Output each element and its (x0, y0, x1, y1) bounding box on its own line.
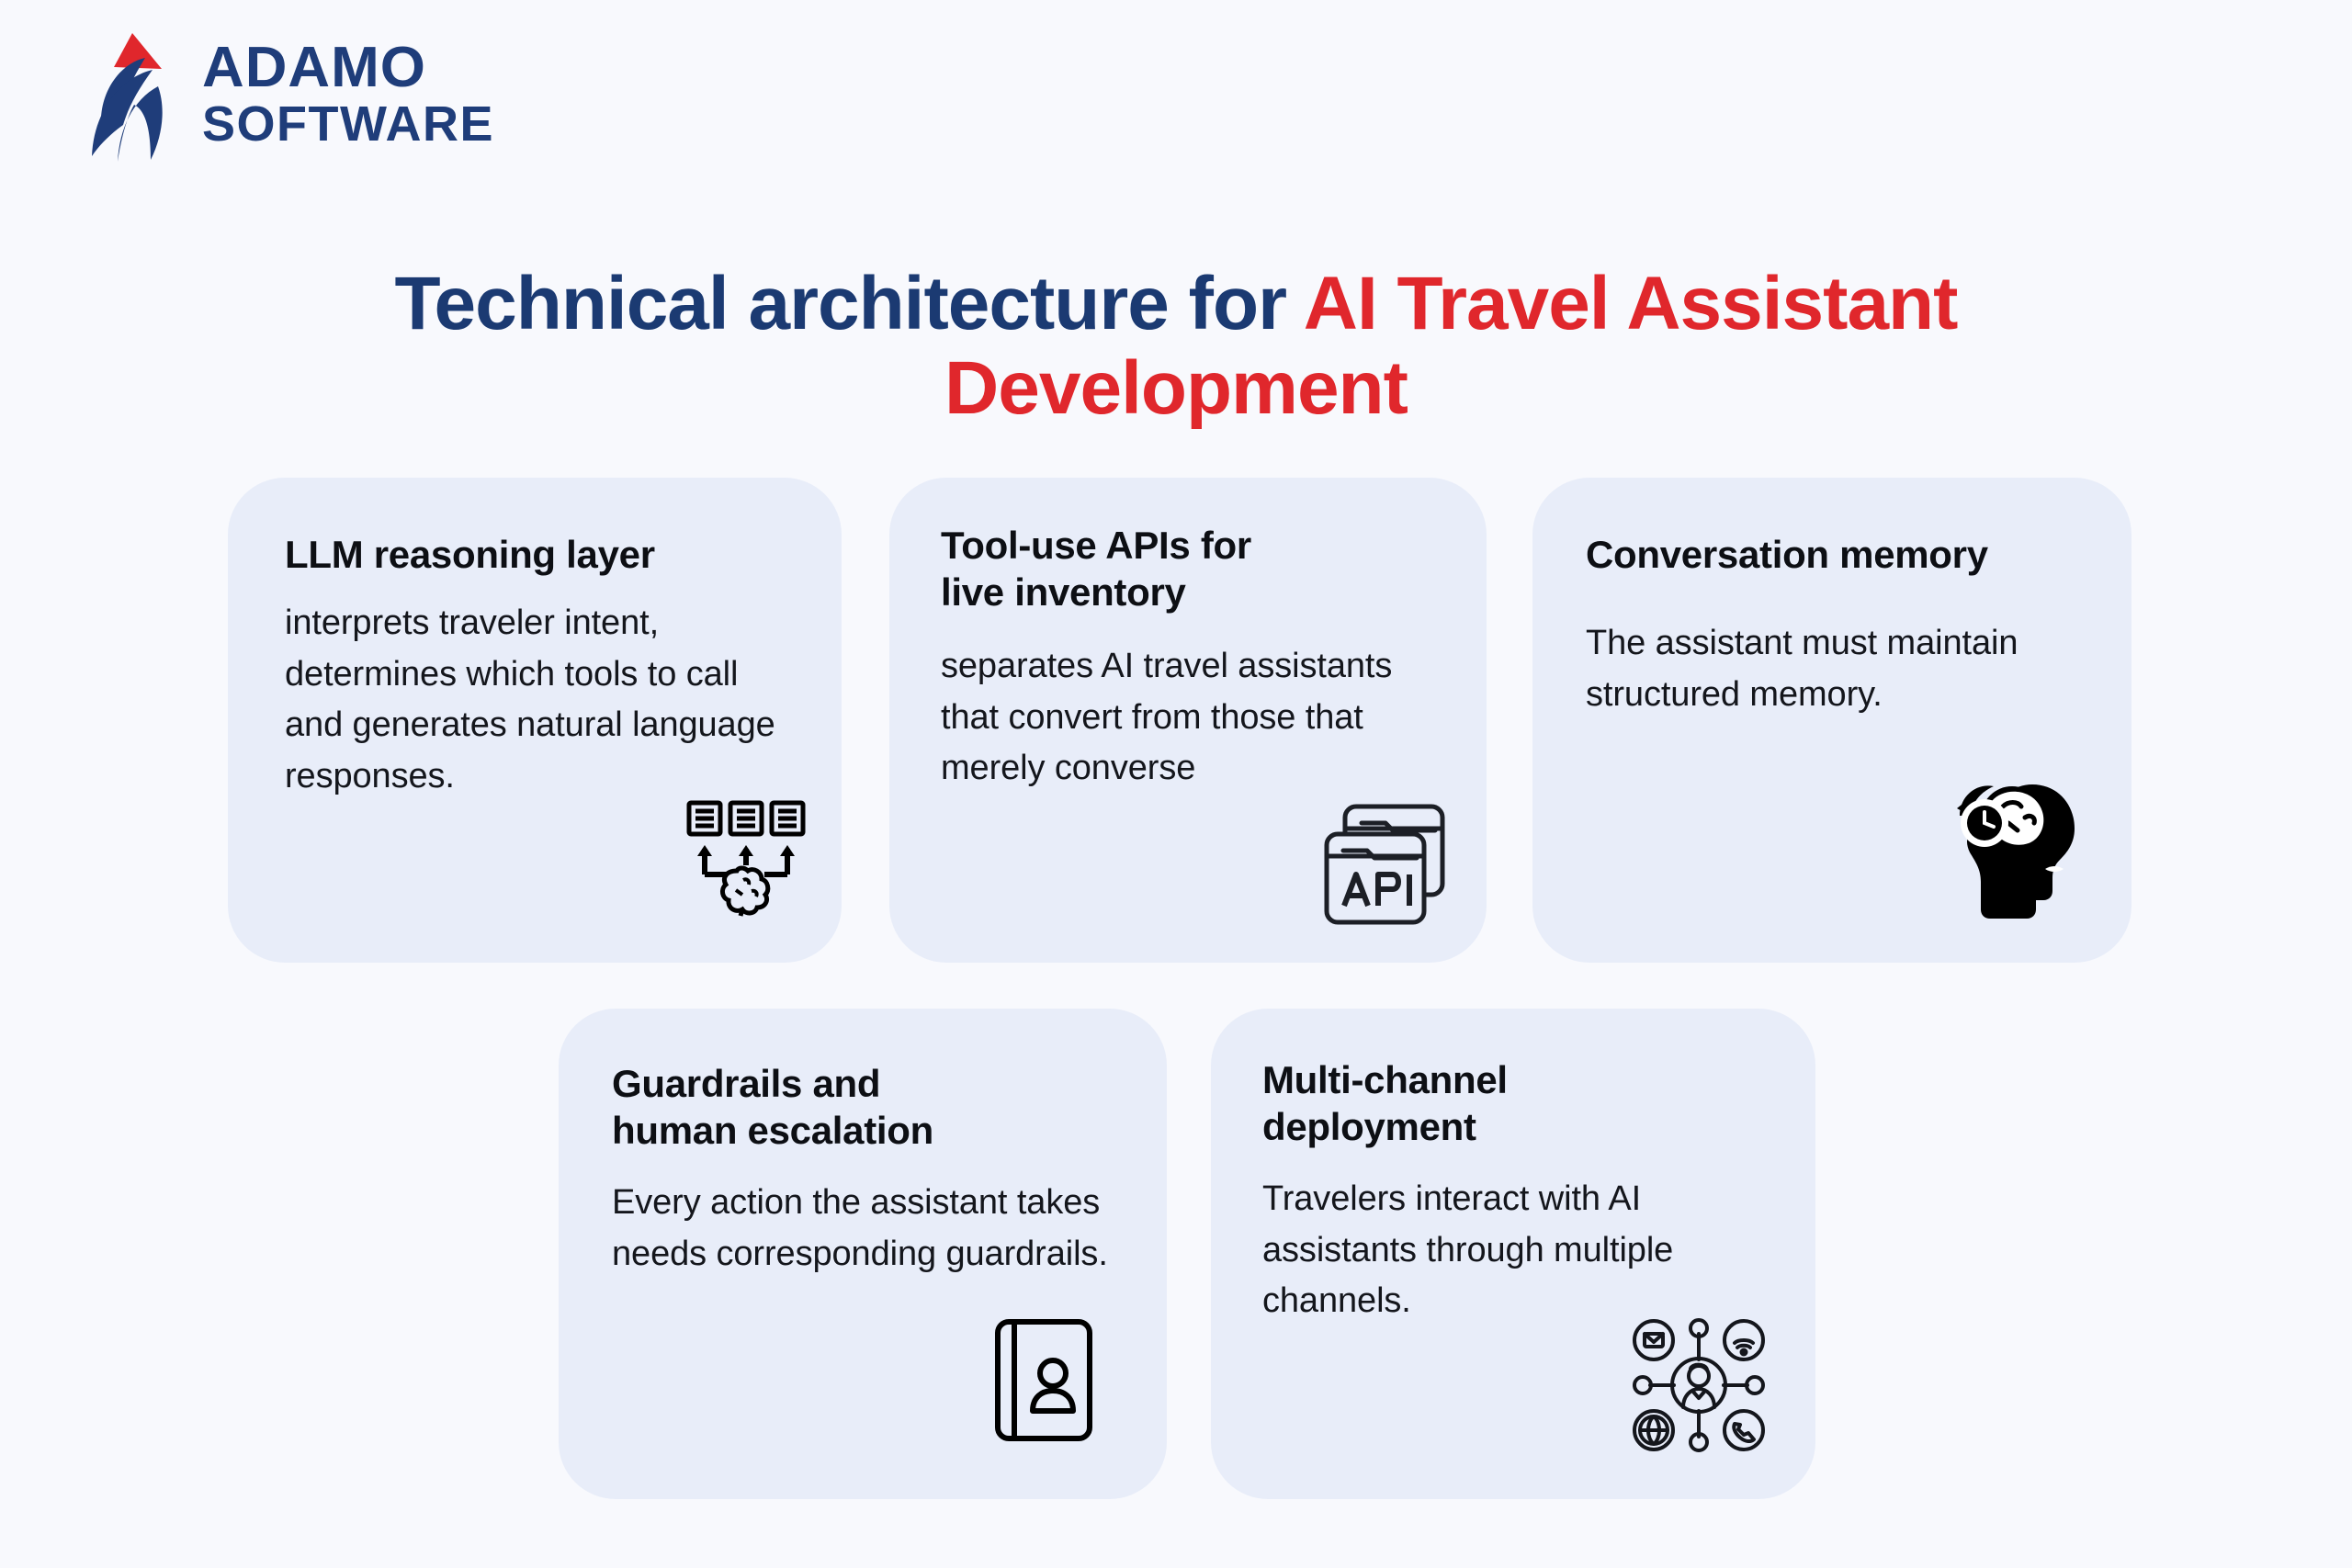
brain-to-documents-icon (685, 799, 807, 917)
card-title: LLM reasoning layer (285, 531, 785, 578)
brand-name-line1: ADAMO (202, 40, 500, 96)
card-body: Every action the assistant takes needs c… (612, 1178, 1114, 1280)
card-body: separates AI travel assistants that conv… (941, 641, 1435, 794)
card-body: The assistant must maintain structured m… (1586, 618, 2078, 720)
contact-book-person-icon (994, 1318, 1095, 1442)
adamo-swoosh-logo-icon (81, 26, 182, 164)
head-clock-brain-icon (1957, 781, 2086, 919)
card-body: Travelers interact with AI assistants th… (1262, 1174, 1764, 1326)
card-multi-channel-deployment: Multi-channel deployment Travelers inter… (1211, 1009, 1815, 1499)
page-title-primary: Technical architecture for (395, 262, 1304, 345)
card-title: Tool-use APIs for live inventory (941, 522, 1435, 615)
card-tool-use-apis: Tool-use APIs for live inventory separat… (889, 478, 1487, 963)
card-title: Guardrails and human escalation (612, 1060, 1114, 1154)
multi-channel-network-icon (1630, 1317, 1768, 1453)
api-windows-icon (1321, 801, 1450, 928)
brand-logo: ADAMO SOFTWARE (81, 26, 494, 164)
card-title: Multi-channel deployment (1262, 1056, 1764, 1150)
card-llm-reasoning-layer: LLM reasoning layer interprets traveler … (228, 478, 842, 963)
page-title: Technical architecture for AI Travel Ass… (0, 262, 2352, 431)
card-guardrails-human-escalation: Guardrails and human escalation Every ac… (559, 1009, 1167, 1499)
card-conversation-memory: Conversation memory The assistant must m… (1532, 478, 2131, 963)
card-title: Conversation memory (1586, 531, 2078, 578)
card-body: interprets traveler intent, determines w… (285, 598, 785, 802)
brand-name-line2: SOFTWARE (202, 100, 494, 149)
